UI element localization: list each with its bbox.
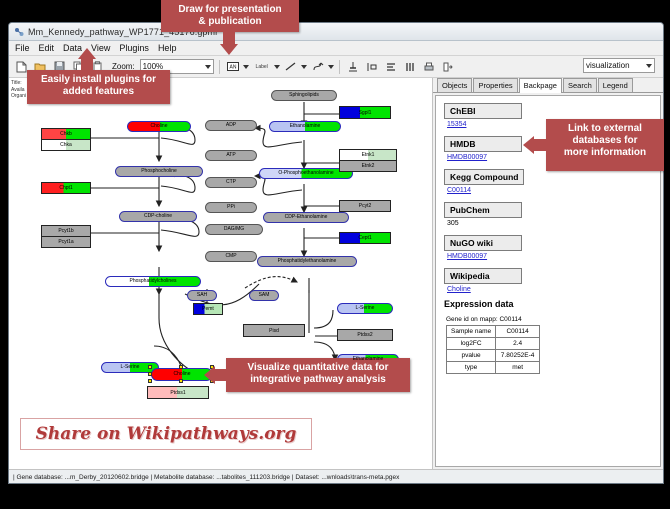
node-label: ADP bbox=[206, 123, 256, 128]
db-title-chebi: ChEBI bbox=[444, 103, 522, 119]
node-label: CDP-Ethanolamine bbox=[264, 215, 348, 220]
tab-search[interactable]: Search bbox=[563, 78, 597, 92]
node-label: CMP bbox=[206, 254, 256, 259]
callout-visualize-stem bbox=[215, 369, 227, 381]
node-label: Sphingolipids bbox=[272, 93, 336, 98]
node-label: L-Serine bbox=[102, 365, 158, 370]
gene-label: Chka bbox=[42, 140, 90, 151]
distribute-vertical-icon[interactable] bbox=[383, 59, 399, 75]
node-label: Choline bbox=[152, 372, 212, 377]
menu-plugins[interactable]: Plugins bbox=[119, 43, 149, 53]
chevron-down-icon[interactable] bbox=[274, 65, 280, 69]
toolbar-separator bbox=[219, 60, 220, 74]
align-bottom-icon[interactable] bbox=[345, 59, 361, 75]
node-label: Phosphatidylethanolamine bbox=[258, 259, 356, 264]
tab-objects[interactable]: Objects bbox=[437, 78, 472, 92]
gene-label: Ptdss1 bbox=[148, 387, 208, 399]
db-title-hmdb: HMDB bbox=[444, 136, 522, 152]
visualization-combo[interactable]: visualization bbox=[583, 58, 655, 73]
expression-data-heading: Expression data bbox=[444, 299, 654, 309]
pathway-metadata: Title: Availa Organi bbox=[11, 80, 26, 100]
callout-easily-install-plugins: Easily install plugins for added feature… bbox=[27, 70, 170, 104]
tab-properties[interactable]: Properties bbox=[473, 78, 517, 92]
callout-line-1: Easily install plugins for bbox=[33, 74, 164, 86]
menu-edit[interactable]: Edit bbox=[39, 43, 55, 53]
node-label: Ethanolamine bbox=[270, 124, 340, 129]
callout-draw-arrow bbox=[220, 44, 238, 55]
chevron-down-icon[interactable] bbox=[646, 64, 652, 68]
callout-line-3: more information bbox=[552, 147, 658, 159]
gene-box-etnk1-etnk2[interactable]: Etnk1 Etnk2 bbox=[339, 149, 397, 172]
app-icon bbox=[14, 27, 24, 37]
callout-line-1: Link to external bbox=[552, 123, 658, 135]
label-icon[interactable]: Label bbox=[252, 59, 272, 75]
db-value-pubchem: 305 bbox=[447, 220, 654, 227]
db-link-nugo-wiki[interactable]: HMDB00097 bbox=[447, 253, 654, 260]
gene-label: Pemt bbox=[194, 304, 222, 315]
db-title-wikipedia: Wikipedia bbox=[444, 268, 522, 284]
node-label: Phosphatidylcholines bbox=[106, 279, 200, 284]
gene-label: Etnk1 bbox=[340, 150, 396, 161]
gene-box-chpt1[interactable]: Chpt1 bbox=[41, 182, 91, 194]
callout-link-external-databases: Link to external databases for more info… bbox=[546, 119, 664, 171]
gene-box-cept1[interactable]: Cept1 bbox=[339, 232, 391, 244]
chevron-down-icon[interactable] bbox=[328, 65, 334, 69]
table-row: pvalue 7.80252E-4 bbox=[447, 350, 540, 362]
gene-label: Pcyt2 bbox=[340, 201, 390, 212]
tab-strip: Objects Properties Backpage Search Legen… bbox=[433, 78, 663, 93]
callout-line-2: added features bbox=[33, 86, 164, 98]
node-cmp[interactable]: CMP bbox=[205, 251, 257, 262]
node-sphingolipids[interactable]: Sphingolipids bbox=[271, 90, 337, 101]
node-ethanolamine-top[interactable]: Ethanolamine bbox=[269, 121, 341, 132]
interaction-icon[interactable] bbox=[310, 59, 326, 75]
table-cell-value: C00114 bbox=[496, 326, 540, 338]
node-phosphatidylcholines[interactable]: Phosphatidylcholines bbox=[105, 276, 201, 287]
node-label: Phosphocholine bbox=[116, 169, 202, 174]
menu-bar: File Edit Data View Plugins Help bbox=[9, 41, 663, 56]
table-cell-label: Sample name bbox=[447, 326, 496, 338]
status-bar: | Gene database: ...m_Derby_20120602.bri… bbox=[9, 469, 663, 484]
gene-label: Pcyt1a bbox=[42, 237, 90, 248]
db-title-kegg: Kegg Compound bbox=[444, 169, 524, 185]
node-label: O-Phosphoethanolamine bbox=[260, 171, 352, 176]
db-title-pubchem: PubChem bbox=[444, 202, 522, 218]
node-ctp[interactable]: CTP bbox=[205, 177, 257, 188]
db-link-kegg[interactable]: C00114 bbox=[447, 187, 654, 194]
print-icon[interactable] bbox=[421, 59, 437, 75]
gene-box-pemt[interactable]: Pemt bbox=[193, 303, 223, 315]
table-cell-value: 2.4 bbox=[496, 338, 540, 350]
callout-draw-for-presentation: Draw for presentation & publication bbox=[161, 0, 299, 32]
pathway-canvas[interactable]: Title: Availa Organi bbox=[9, 78, 433, 469]
table-cell-value: 7.80252E-4 bbox=[496, 350, 540, 362]
node-atp[interactable]: ATP bbox=[205, 150, 257, 161]
callout-visualize-quantitative-data: Visualize quantitative data for integrat… bbox=[226, 358, 410, 392]
node-dagmg[interactable]: DAG/MG bbox=[205, 224, 263, 235]
gene-label: Pisd bbox=[244, 325, 304, 337]
table-cell-label: log2FC bbox=[447, 338, 496, 350]
node-label: CTP bbox=[206, 180, 256, 185]
gene-box-chkb-chka[interactable]: Chkb Chka bbox=[41, 128, 91, 151]
node-l-serine-right[interactable]: L-Serine bbox=[337, 303, 393, 314]
node-label: SAH bbox=[188, 293, 216, 298]
selection-handle[interactable] bbox=[148, 379, 152, 383]
chevron-down-icon[interactable] bbox=[243, 65, 249, 69]
gene-label: Chpt1 bbox=[42, 183, 90, 194]
gene-id-line: Gene id on mapp: C00114 bbox=[446, 316, 654, 323]
gene-box-ptdss1[interactable]: Ptdss1 bbox=[147, 386, 209, 399]
share-text: Share on Wikipathways.org bbox=[36, 424, 297, 444]
node-label: ATP bbox=[206, 153, 256, 158]
callout-plugins-arrow bbox=[78, 48, 96, 59]
tab-legend[interactable]: Legend bbox=[598, 78, 633, 92]
meta-organism: Organi bbox=[11, 93, 26, 100]
node-label: CDP-choline bbox=[120, 214, 196, 219]
table-cell-label: type bbox=[447, 362, 496, 374]
menu-file[interactable]: File bbox=[15, 43, 30, 53]
callout-line-2: databases for bbox=[552, 135, 658, 147]
node-label: DAG/MG bbox=[206, 227, 262, 232]
node-label: PPi bbox=[206, 205, 256, 210]
status-text: | Gene database: ...m_Derby_20120602.bri… bbox=[13, 474, 399, 481]
callout-plugins-stem bbox=[81, 59, 93, 71]
node-cdp-choline[interactable]: CDP-choline bbox=[119, 211, 197, 222]
svg-text:AN: AN bbox=[229, 65, 236, 71]
gene-label: Etnk2 bbox=[340, 161, 396, 172]
node-sam[interactable]: SAM bbox=[249, 290, 279, 301]
node-label: SAM bbox=[250, 293, 278, 298]
title-bar: Mm_Kennedy_pathway_WP1771_45176.gpml bbox=[9, 23, 663, 41]
visualization-value: visualization bbox=[586, 61, 630, 70]
gene-box-pisd[interactable]: Pisd bbox=[243, 324, 305, 337]
callout-line-1: Visualize quantitative data for bbox=[232, 362, 404, 374]
callout-link-arrow bbox=[523, 136, 534, 154]
node-adp[interactable]: ADP bbox=[205, 120, 257, 131]
interaction-tool[interactable] bbox=[310, 59, 334, 75]
line-tool[interactable] bbox=[283, 59, 307, 75]
export-icon[interactable] bbox=[440, 59, 456, 75]
tab-backpage[interactable]: Backpage bbox=[519, 78, 562, 93]
table-cell-value: met bbox=[496, 362, 540, 374]
callout-line-2: & publication bbox=[167, 16, 293, 28]
gene-label: Sgpl1 bbox=[340, 107, 390, 119]
node-label: L-Serine bbox=[338, 306, 392, 311]
line-icon[interactable] bbox=[283, 59, 299, 75]
gene-box-pcyt2[interactable]: Pcyt2 bbox=[339, 200, 391, 212]
chevron-down-icon[interactable] bbox=[205, 65, 211, 69]
gene-label: Cept1 bbox=[340, 233, 390, 244]
db-link-wikipedia[interactable]: Choline bbox=[447, 286, 654, 293]
node-cdp-ethanolamine[interactable]: CDP-Ethanolamine bbox=[263, 212, 349, 223]
gene-box-sgpl1[interactable]: Sgpl1 bbox=[339, 106, 391, 119]
chevron-down-icon[interactable] bbox=[301, 65, 307, 69]
toolbar-separator bbox=[339, 60, 340, 74]
table-row: Sample name C00114 bbox=[447, 326, 540, 338]
align-left-icon[interactable] bbox=[364, 59, 380, 75]
table-cell-label: pvalue bbox=[447, 350, 496, 362]
node-choline-top[interactable]: Choline bbox=[127, 121, 191, 132]
gene-label: Ptdss2 bbox=[338, 330, 392, 341]
datanode-icon[interactable]: AN bbox=[225, 59, 241, 75]
callout-share-wikipathways: Share on Wikipathways.org bbox=[20, 418, 312, 450]
node-sah[interactable]: SAH bbox=[187, 290, 217, 301]
node-ppi[interactable]: PPi bbox=[205, 202, 257, 213]
table-row: log2FC 2.4 bbox=[447, 338, 540, 350]
label-tool[interactable]: Label bbox=[252, 59, 280, 75]
same-width-icon[interactable] bbox=[402, 59, 418, 75]
node-label: Choline bbox=[128, 124, 190, 129]
gene-box-pcyt1b-pcyt1a[interactable]: Pcyt1b Pcyt1a bbox=[41, 225, 91, 248]
node-phosphatidylethanolamine[interactable]: Phosphatidylethanolamine bbox=[257, 256, 357, 267]
callout-line-1: Draw for presentation bbox=[167, 4, 293, 16]
expression-table: Sample name C00114 log2FC 2.4 pvalue 7.8… bbox=[446, 325, 540, 374]
gene-label: Pcyt1b bbox=[42, 226, 90, 237]
selection-handle[interactable] bbox=[179, 379, 183, 383]
selection-handle[interactable] bbox=[179, 365, 183, 369]
node-phosphocholine[interactable]: Phosphocholine bbox=[115, 166, 203, 177]
db-title-nugo-wiki: NuGO wiki bbox=[444, 235, 522, 251]
gene-box-ptdss2[interactable]: Ptdss2 bbox=[337, 329, 393, 341]
datanode-tool[interactable]: AN bbox=[225, 59, 249, 75]
callout-line-2: integrative pathway analysis bbox=[232, 374, 404, 386]
node-label: Ethanolamine bbox=[338, 357, 398, 362]
menu-help[interactable]: Help bbox=[158, 43, 177, 53]
table-row: type met bbox=[447, 362, 540, 374]
gene-label: Chkb bbox=[42, 129, 90, 140]
callout-link-stem bbox=[534, 139, 547, 151]
